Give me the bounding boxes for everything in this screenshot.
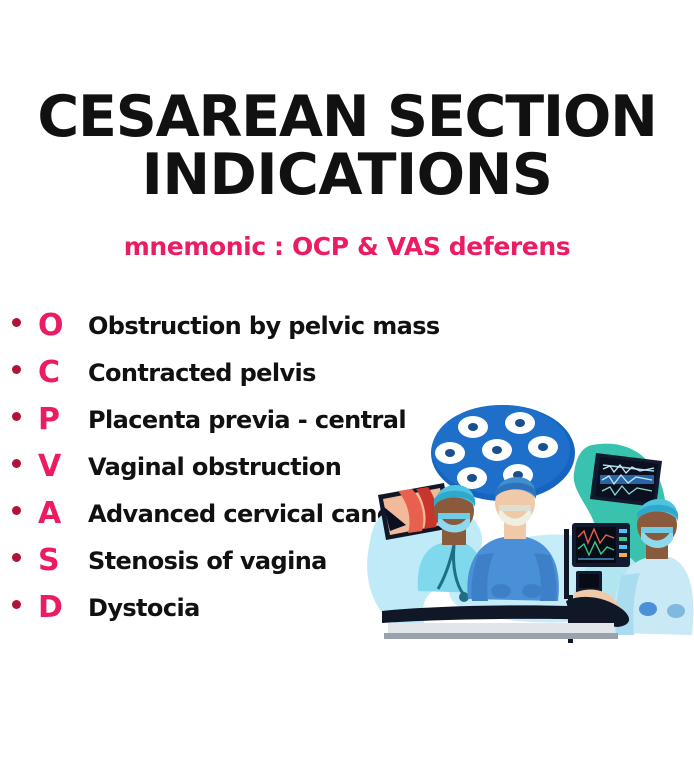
mnemonic-letter: A [38,494,72,534]
wall-monitor-waveform-icon [590,453,662,507]
bullet-dot-icon [12,459,21,468]
infographic-page: CESAREAN SECTION INDICATIONS mnemonic : … [0,0,694,782]
mnemonic-description: Obstruction by pelvic mass [88,306,440,346]
bullet-dot-icon [12,412,21,421]
mnemonic-letter: C [38,353,72,393]
mnemonic-letter: S [38,541,72,581]
list-item: O Obstruction by pelvic mass [0,306,440,353]
mnemonic-description: Dystocia [88,588,200,628]
page-title: CESAREAN SECTION INDICATIONS [0,88,694,204]
mnemonic-description: Contracted pelvis [88,353,316,393]
mnemonic-letter: D [38,588,72,628]
list-item: C Contracted pelvis [0,353,440,400]
title-line-1: CESAREAN SECTION [0,88,694,146]
mnemonic-letter: V [38,447,72,487]
mnemonic-description: Stenosis of vagina [88,541,327,581]
mnemonic-subtitle: mnemonic : OCP & VAS deferens [0,232,694,261]
mnemonic-letter: P [38,400,72,440]
mnemonic-letter: O [38,306,72,346]
mnemonic-description: Vaginal obstruction [88,447,341,487]
bullet-dot-icon [12,365,21,374]
operating-room-illustration [360,395,694,650]
bullet-dot-icon [12,600,21,609]
bullet-dot-icon [12,318,21,327]
mnemonic-description: Placenta previa - central [88,400,406,440]
bullet-dot-icon [12,553,21,562]
bullet-dot-icon [12,506,21,515]
title-line-2: INDICATIONS [0,146,694,204]
